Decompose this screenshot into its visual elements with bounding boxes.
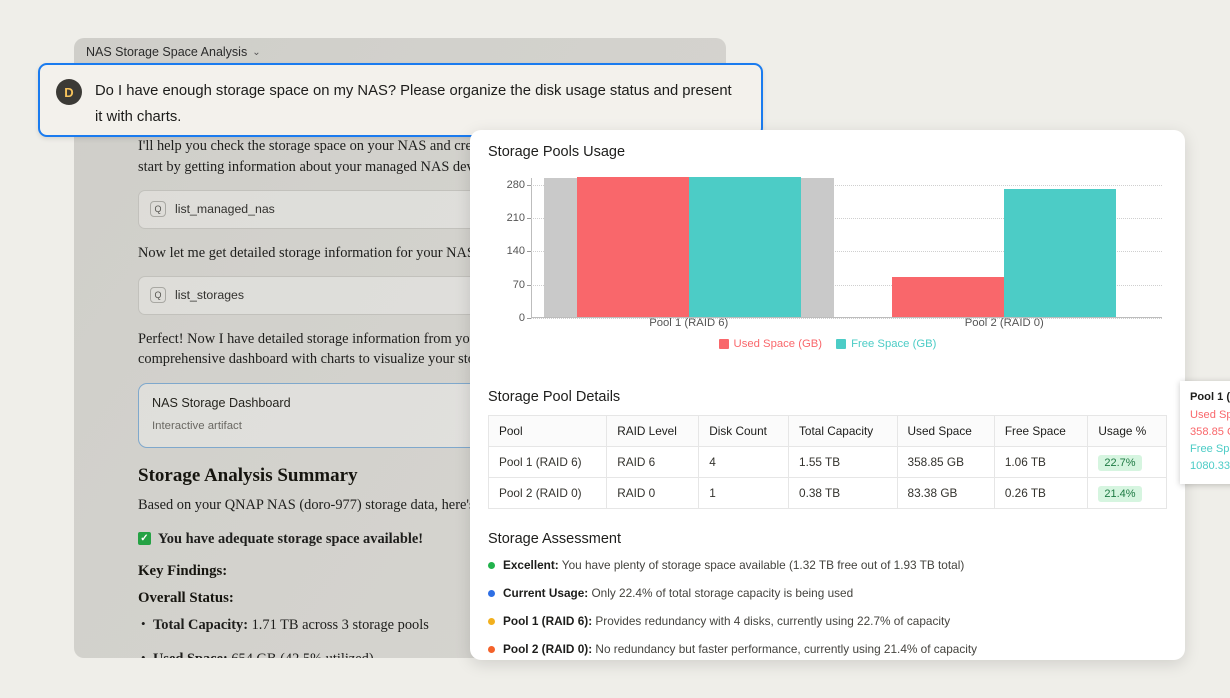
tool-name: list_managed_nas	[175, 199, 275, 220]
tool-icon: Q	[150, 287, 166, 303]
assessment-list: Excellent: You have plenty of storage sp…	[488, 558, 1167, 656]
table-cell: 0.26 TB	[994, 478, 1088, 509]
assessment-label: Pool 1 (RAID 6):	[503, 614, 592, 628]
artifact-panel: Storage Pools Usage 070140210280 Pool 1 …	[470, 130, 1185, 660]
table-header-cell: Pool	[489, 416, 607, 447]
assessment-item: Current Usage: Only 22.4% of total stora…	[488, 586, 1167, 600]
chevron-down-icon[interactable]: ⌄	[252, 47, 260, 58]
table-cell: 358.85 GB	[897, 447, 994, 478]
finding-value: 1.71 TB across 3 storage pools	[248, 617, 429, 633]
table-cell: RAID 6	[607, 447, 699, 478]
storage-pools-chart[interactable]: 070140210280 Pool 1 (RAID 6) Used Space …	[488, 170, 1167, 375]
assessment-text: Excellent: You have plenty of storage sp…	[503, 558, 964, 572]
table-cell: 1.55 TB	[789, 447, 898, 478]
assessment-item: Pool 1 (RAID 6): Provides redundancy wit…	[488, 614, 1167, 628]
usage-badge: 22.7%	[1098, 455, 1141, 471]
table-header-cell: Free Space	[994, 416, 1088, 447]
tooltip-used-space: Used Space (GB) : 358.85 GB	[1190, 407, 1230, 441]
x-axis-label: Pool 1 (RAID 6)	[649, 317, 728, 329]
table-cell: 83.38 GB	[897, 478, 994, 509]
y-axis-tick: 280	[507, 179, 531, 191]
table-cell: 21.4%	[1088, 478, 1167, 509]
chart-title: Storage Pools Usage	[488, 144, 1167, 160]
assessment-text: Current Usage: Only 22.4% of total stora…	[503, 586, 853, 600]
chart-bar[interactable]	[1004, 189, 1116, 317]
storage-assessment-section: Storage Assessment Excellent: You have p…	[488, 531, 1167, 656]
user-message-bubble[interactable]: D Do I have enough storage space on my N…	[38, 63, 763, 137]
y-axis-tick: 70	[513, 279, 531, 291]
assessment-title: Storage Assessment	[488, 531, 1167, 547]
assessment-label: Excellent:	[503, 558, 559, 572]
y-axis-tick: 140	[507, 245, 531, 257]
table-header-cell: Disk Count	[699, 416, 789, 447]
screen: NAS Storage Space Analysis ⌄ I'll help y…	[0, 0, 1230, 698]
tooltip-free-space: Free Space (GB) : 1080.33 GB	[1190, 441, 1230, 475]
table-body: Pool 1 (RAID 6)RAID 641.55 TB358.85 GB1.…	[489, 447, 1167, 509]
table-header-cell: Used Space	[897, 416, 994, 447]
table-header-row: PoolRAID LevelDisk CountTotal CapacityUs…	[489, 416, 1167, 447]
table-header-cell: RAID Level	[607, 416, 699, 447]
assessment-text: Pool 2 (RAID 0): No redundancy but faste…	[503, 642, 977, 656]
table-row: Pool 1 (RAID 6)RAID 641.55 TB358.85 GB1.…	[489, 447, 1167, 478]
status-dot-icon	[488, 646, 495, 653]
table-header-cell: Total Capacity	[789, 416, 898, 447]
usage-badge: 21.4%	[1098, 486, 1141, 502]
assessment-label: Pool 2 (RAID 0):	[503, 642, 592, 656]
finding-label: Total Capacity:	[153, 617, 248, 633]
chart-bar[interactable]	[689, 177, 801, 317]
y-axis	[531, 178, 532, 318]
assessment-detail: Provides redundancy with 4 disks, curren…	[592, 614, 950, 628]
legend-swatch	[836, 339, 846, 349]
table-cell: Pool 2 (RAID 0)	[489, 478, 607, 509]
legend-item[interactable]: Free Space (GB)	[836, 338, 936, 350]
legend-swatch	[719, 339, 729, 349]
table-title: Storage Pool Details	[488, 389, 1167, 405]
user-message-text: Do I have enough storage space on my NAS…	[95, 78, 743, 130]
table-header-cell: Usage %	[1088, 416, 1167, 447]
legend-label: Free Space (GB)	[851, 338, 936, 350]
tool-name: list_storages	[175, 285, 244, 306]
chart-legend: Used Space (GB)Free Space (GB)	[488, 338, 1167, 350]
chart-plot-area: 070140210280	[531, 178, 1162, 318]
status-dot-icon	[488, 562, 495, 569]
chart-tooltip: Pool 1 (RAID 6) Used Space (GB) : 358.85…	[1180, 381, 1230, 484]
conversation-tab[interactable]: NAS Storage Space Analysis ⌄	[74, 38, 726, 62]
adequate-space-text: You have adequate storage space availabl…	[158, 529, 423, 550]
check-icon: ✓	[138, 532, 151, 545]
table-row: Pool 2 (RAID 0)RAID 010.38 TB83.38 GB0.2…	[489, 478, 1167, 509]
assessment-label: Current Usage:	[503, 586, 588, 600]
assessment-detail: Only 22.4% of total storage capacity is …	[588, 586, 853, 600]
chart-bar[interactable]	[892, 277, 1004, 317]
table-cell: 4	[699, 447, 789, 478]
finding-label: Used Space:	[153, 651, 228, 659]
storage-pool-table: PoolRAID LevelDisk CountTotal CapacityUs…	[488, 415, 1167, 509]
finding-value: 654 GB (42.5% utilized)	[228, 651, 374, 659]
tool-icon: Q	[150, 201, 166, 217]
avatar: D	[56, 79, 82, 105]
chart-bar[interactable]	[577, 177, 689, 317]
status-dot-icon	[488, 618, 495, 625]
status-dot-icon	[488, 590, 495, 597]
table-cell: 1.06 TB	[994, 447, 1088, 478]
assessment-item: Pool 2 (RAID 0): No redundancy but faste…	[488, 642, 1167, 656]
conversation-tab-label: NAS Storage Space Analysis	[86, 45, 247, 59]
assessment-item: Excellent: You have plenty of storage sp…	[488, 558, 1167, 572]
legend-item[interactable]: Used Space (GB)	[719, 338, 823, 350]
x-axis-label: Pool 2 (RAID 0)	[965, 317, 1044, 329]
grid-line	[531, 318, 1162, 319]
y-axis-tick: 210	[507, 212, 531, 224]
tooltip-title: Pool 1 (RAID 6)	[1190, 389, 1230, 406]
table-cell: RAID 0	[607, 478, 699, 509]
storage-pool-details-section: Storage Pool Details PoolRAID LevelDisk …	[488, 389, 1167, 509]
legend-label: Used Space (GB)	[734, 338, 823, 350]
assessment-text: Pool 1 (RAID 6): Provides redundancy wit…	[503, 614, 950, 628]
assessment-detail: You have plenty of storage space availab…	[559, 558, 965, 572]
assessment-detail: No redundancy but faster performance, cu…	[592, 642, 977, 656]
table-cell: 1	[699, 478, 789, 509]
table-cell: Pool 1 (RAID 6)	[489, 447, 607, 478]
y-axis-tick: 0	[519, 312, 531, 324]
table-cell: 0.38 TB	[789, 478, 898, 509]
table-cell: 22.7%	[1088, 447, 1167, 478]
